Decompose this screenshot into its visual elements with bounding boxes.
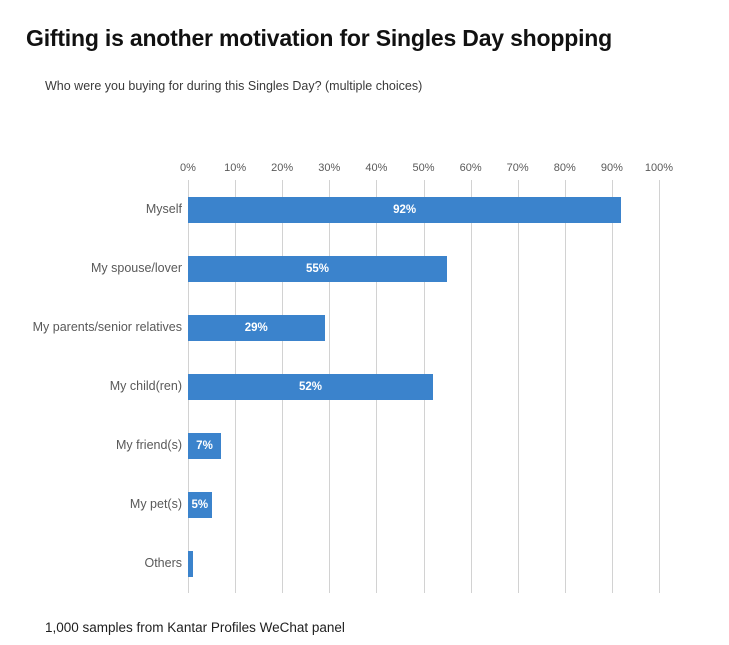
y-category-label: My friend(s) [6, 438, 182, 453]
x-tick-label: 0% [180, 162, 196, 174]
bar-value-label: 92% [188, 197, 621, 223]
bar-row[interactable]: 5% [188, 492, 659, 518]
bar-value-label: 7% [188, 433, 221, 459]
y-category-label: My parents/senior relatives [6, 320, 182, 335]
y-category-label: My pet(s) [6, 497, 182, 512]
bar-row[interactable]: 92% [188, 197, 659, 223]
y-category-label: Myself [6, 202, 182, 217]
y-category-label: Others [6, 556, 182, 571]
bar[interactable] [188, 551, 193, 577]
y-axis-category-labels: MyselfMy spouse/loverMy parents/senior r… [0, 180, 182, 593]
x-tick-label: 80% [554, 162, 576, 174]
x-tick-label: 50% [412, 162, 434, 174]
x-tick-label: 30% [318, 162, 340, 174]
x-tick-label: 90% [601, 162, 623, 174]
bar-row[interactable]: 52% [188, 374, 659, 400]
gridline [659, 180, 660, 593]
chart-footnote: 1,000 samples from Kantar Profiles WeCha… [45, 620, 345, 635]
y-category-label: My child(ren) [6, 379, 182, 394]
bar-row[interactable]: 29% [188, 315, 659, 341]
x-tick-label: 60% [460, 162, 482, 174]
x-axis-tick-labels: 0%10%20%30%40%50%60%70%80%90%100% [188, 162, 659, 176]
chart-subtitle: Who were you buying for during this Sing… [45, 79, 422, 93]
bar-row[interactable]: 7% [188, 433, 659, 459]
x-tick-label: 40% [365, 162, 387, 174]
chart-title: Gifting is another motivation for Single… [26, 25, 612, 52]
bar-value-label: 29% [188, 315, 325, 341]
bar-value-label: 52% [188, 374, 433, 400]
x-tick-label: 70% [507, 162, 529, 174]
bar-value-label: 55% [188, 256, 447, 282]
x-tick-label: 10% [224, 162, 246, 174]
plot-area: 92%55%29%52%7%5% [188, 180, 659, 593]
bar-row[interactable]: 55% [188, 256, 659, 282]
x-tick-label: 100% [645, 162, 673, 174]
y-category-label: My spouse/lover [6, 261, 182, 276]
bar-row[interactable] [188, 551, 659, 577]
x-tick-label: 20% [271, 162, 293, 174]
bar-value-label: 5% [188, 492, 212, 518]
